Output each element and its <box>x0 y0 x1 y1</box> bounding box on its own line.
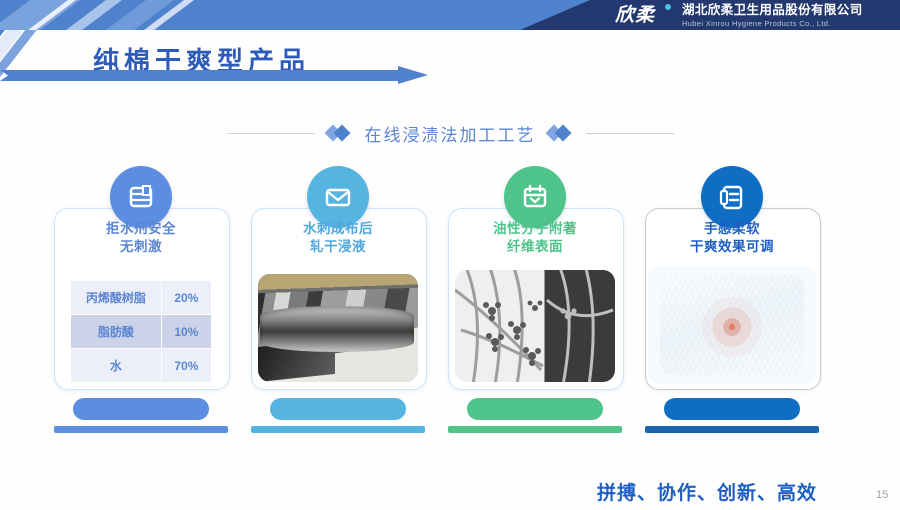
table-cell-name: 脂肪酸 <box>71 315 162 349</box>
table-row: 脂肪酸 10% <box>71 315 212 349</box>
card-4-heading-line1: 手感柔软 <box>645 220 819 238</box>
subtitle-band: 在线浸渍法加工工艺 <box>215 118 685 148</box>
swatch-render <box>660 275 804 375</box>
card-2-heading-line1: 水刺成布后 <box>251 220 425 238</box>
card-4-base-bar <box>645 426 819 433</box>
arrow-shaft <box>0 70 404 81</box>
card-2-pill-button[interactable] <box>270 398 406 420</box>
top-banner: 欣柔 湖北欣柔卫生用品股份有限公司 Hubei Xinrou Hygiene P… <box>0 0 900 30</box>
company-name-cn: 湖北欣柔卫生用品股份有限公司 <box>682 4 863 17</box>
fiber-microscopy-photo <box>455 270 615 382</box>
ledger-book-icon <box>110 166 172 228</box>
card-4-pill-button[interactable] <box>664 398 800 420</box>
calender-roller-photo <box>258 274 418 382</box>
table-cell-value: 10% <box>161 315 211 349</box>
card-2-heading-line2: 轧干浸液 <box>251 238 425 256</box>
card-4-heading: 手感柔软 干爽效果可调 <box>645 220 819 256</box>
table-row: 水 70% <box>71 349 212 383</box>
calendar-icon <box>504 166 566 228</box>
page-number: 15 <box>876 489 888 501</box>
logo-mark-text: 欣柔 <box>615 6 655 25</box>
logo-mark: 欣柔 <box>596 3 674 29</box>
table-cell-name: 水 <box>71 349 162 383</box>
diamond-ornament-right <box>546 125 576 141</box>
title-arrow-rule <box>0 68 432 83</box>
composition-table: 丙烯酸树脂 20% 脂肪酸 10% 水 70% <box>70 280 212 383</box>
card-1-heading: 拒水剂安全 无刺激 <box>54 220 228 256</box>
table-cell-name: 丙烯酸树脂 <box>71 281 162 315</box>
card-1-pill-button[interactable] <box>73 398 209 420</box>
card-2-base-bar <box>251 426 425 433</box>
process-card-4[interactable]: 手感柔软 干爽效果可调 <box>634 158 830 448</box>
card-3-pill-button[interactable] <box>467 398 603 420</box>
company-name-en: Hubei Xinrou Hygiene Products Co., Ltd. <box>682 20 863 28</box>
table-row: 丙烯酸树脂 20% <box>71 281 212 315</box>
slide: 欣柔 湖北欣柔卫生用品股份有限公司 Hubei Xinrou Hygiene P… <box>0 0 900 510</box>
document-icon <box>701 166 763 228</box>
arrow-head-icon <box>398 66 428 84</box>
table-cell-value: 20% <box>161 281 211 315</box>
subtitle-rule-right <box>586 133 674 134</box>
card-2-heading: 水刺成布后 轧干浸液 <box>251 220 425 256</box>
card-1-base-bar <box>54 426 228 433</box>
subtitle-text: 在线浸渍法加工工艺 <box>365 121 536 146</box>
card-3-heading-line2: 纤维表面 <box>448 238 622 256</box>
company-logo: 欣柔 湖北欣柔卫生用品股份有限公司 Hubei Xinrou Hygiene P… <box>596 1 896 30</box>
company-name-block: 湖北欣柔卫生用品股份有限公司 Hubei Xinrou Hygiene Prod… <box>682 4 863 27</box>
process-card-3[interactable]: 油性分子附著 纤维表面 <box>437 158 633 448</box>
envelope-icon <box>307 166 369 228</box>
footer-slogan: 拼搏、协作、创新、高效 <box>597 478 817 505</box>
card-3-base-bar <box>448 426 622 433</box>
absorbency-swatch-photo <box>648 266 816 384</box>
diamond-ornament-left <box>325 125 355 141</box>
card-4-heading-line2: 干爽效果可调 <box>645 238 819 256</box>
card-3-heading-line1: 油性分子附著 <box>448 220 622 238</box>
fiber-photo-render <box>455 270 615 382</box>
process-card-1[interactable]: 拒水剂安全 无刺激 丙烯酸树脂 20% 脂肪酸 10% 水 70% <box>43 158 239 448</box>
card-1-heading-line2: 无刺激 <box>54 238 228 256</box>
card-1-heading-line1: 拒水剂安全 <box>54 220 228 238</box>
process-card-row: 拒水剂安全 无刺激 丙烯酸树脂 20% 脂肪酸 10% 水 70% <box>0 158 900 448</box>
process-card-2[interactable]: 水刺成布后 轧干浸液 <box>240 158 436 448</box>
card-3-heading: 油性分子附著 纤维表面 <box>448 220 622 256</box>
subtitle-rule-left <box>227 133 315 134</box>
roller-photo-render <box>258 274 418 382</box>
leaf-dot-icon <box>665 4 671 10</box>
table-cell-value: 70% <box>161 349 211 383</box>
